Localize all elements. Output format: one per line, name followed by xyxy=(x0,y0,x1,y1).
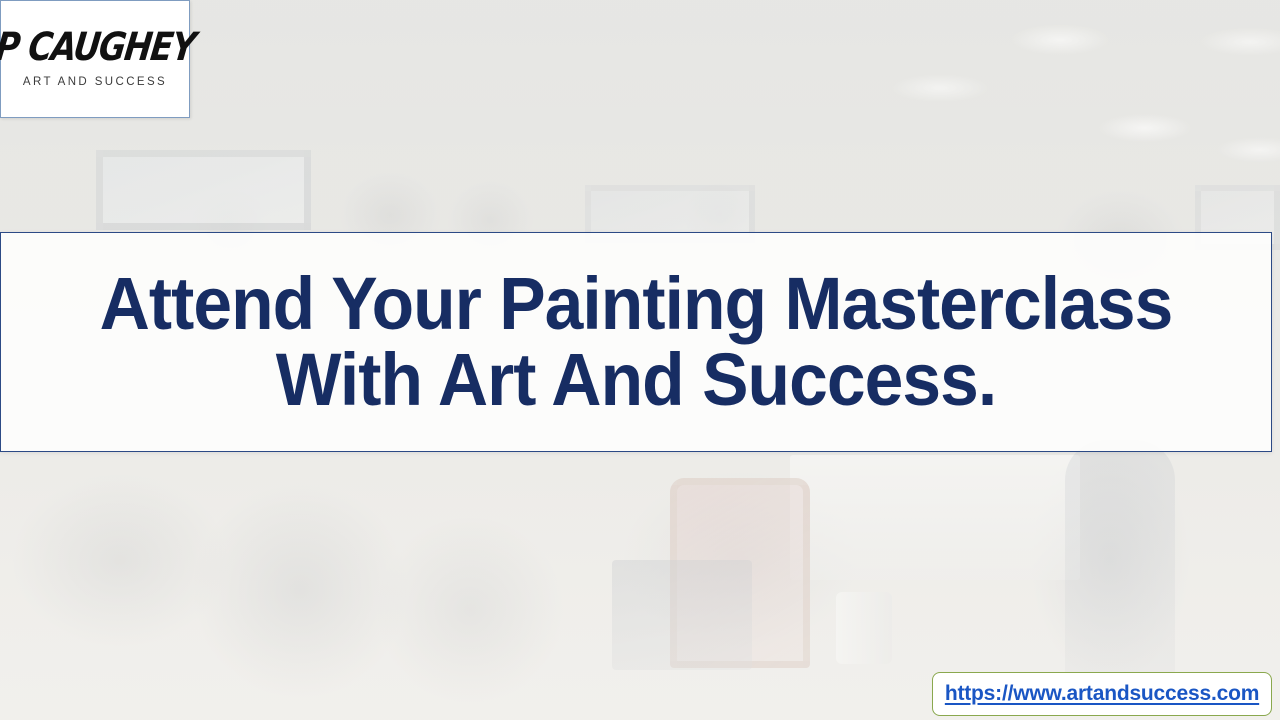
headline-panel: Attend Your Painting Masterclass With Ar… xyxy=(0,232,1272,452)
website-url-link[interactable]: https://www.artandsuccess.com xyxy=(945,682,1259,706)
slide-canvas: P CAUGHEY ART AND SUCCESS Attend Your Pa… xyxy=(0,0,1280,720)
page-title: Attend Your Painting Masterclass With Ar… xyxy=(39,266,1233,418)
brand-wordmark: P CAUGHEY xyxy=(0,27,197,66)
brand-logo-card: P CAUGHEY ART AND SUCCESS xyxy=(0,0,190,118)
website-url-badge[interactable]: https://www.artandsuccess.com xyxy=(932,672,1272,716)
brand-tagline: ART AND SUCCESS xyxy=(23,76,167,88)
